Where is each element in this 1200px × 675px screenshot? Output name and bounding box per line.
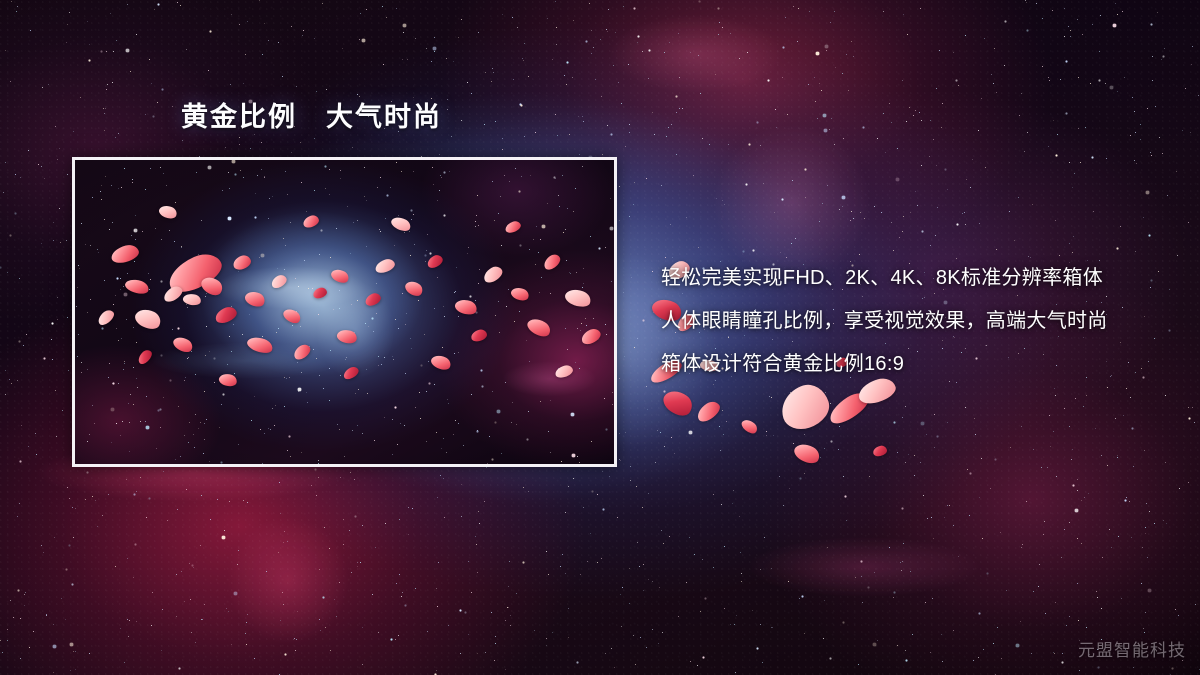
description-line-2: 人体眼睛瞳孔比例，享受视觉效果，高端大气时尚: [661, 300, 1181, 343]
presentation-slide: 黄金比例 大气时尚 轻松完美实现FHD、2K、4K、8K标准分辨率箱体 人体眼睛…: [0, 0, 1200, 675]
galaxy-image-panel[interactable]: [72, 157, 617, 467]
description-line-1: 轻松完美实现FHD、2K、4K、8K标准分辨率箱体: [661, 257, 1181, 300]
description-text-block: 轻松完美实现FHD、2K、4K、8K标准分辨率箱体 人体眼睛瞳孔比例，享受视觉效…: [661, 257, 1181, 386]
brand-watermark: 元盟智能科技: [1078, 636, 1186, 661]
galaxy-wisp-overlay: [75, 160, 614, 464]
description-line-3: 箱体设计符合黄金比例16:9: [661, 343, 1181, 386]
starfield-background: [0, 0, 1, 1]
starfield-panel: [75, 160, 76, 161]
page-title: 黄金比例 大气时尚: [181, 101, 442, 133]
